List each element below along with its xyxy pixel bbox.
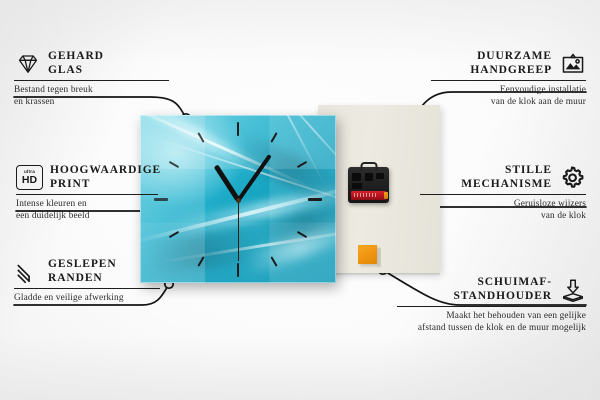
feature-divider	[14, 288, 160, 289]
feature-title-line2: PRINT	[50, 178, 161, 192]
feature-subtitle-line1: Geruisloze wijzers	[420, 199, 586, 211]
feature-subtitle-line2: afstand tussen de klok en de muur mogeli…	[397, 323, 586, 335]
feature-schuimafstandhouder: SCHUIMAF- STANDHOUDER Maakt het behouden…	[397, 276, 586, 334]
tick-3	[308, 198, 322, 201]
feature-title-line2: STANDHOUDER	[397, 290, 552, 304]
feature-title-line2: RANDEN	[48, 272, 117, 286]
tick-6	[237, 263, 239, 277]
feature-divider	[431, 80, 586, 81]
hand-hub	[236, 198, 241, 203]
feature-subtitle-line1: Intense kleuren en	[16, 199, 194, 211]
feature-title-line2: MECHANISME	[420, 178, 552, 192]
feature-divider	[397, 306, 586, 307]
feature-subtitle-line2: en krassen	[14, 97, 169, 109]
feature-geslepen-randen: GESLEPEN RANDEN Gladde en veilige afwerk…	[14, 258, 174, 305]
feature-hoogwaardige-print: ultra HD HOOGWAARDIGE PRINT Intense kleu…	[16, 164, 194, 222]
feature-subtitle-line1: Eenvoudige installatie	[431, 85, 586, 97]
feature-divider	[16, 194, 158, 195]
quartz-movement	[348, 167, 389, 203]
battery	[351, 191, 386, 200]
feature-title-line1: GEHARD	[48, 50, 104, 64]
infographic-canvas: GEHARD GLAS Bestand tegen breuk en krass…	[0, 0, 600, 400]
feature-title-line2: HANDGREEP	[431, 64, 552, 78]
tick-12	[237, 122, 239, 136]
feature-divider	[14, 80, 169, 81]
feature-subtitle-line2: een duidelijk beeld	[16, 211, 194, 223]
feature-title-line1: HOOGWAARDIGE	[50, 164, 161, 178]
feature-subtitle-line1: Maakt het behouden van een gelijke	[397, 311, 586, 323]
feature-subtitle-line2: van de klok aan de muur	[431, 97, 586, 109]
diamond-icon	[14, 50, 41, 77]
feature-stille-mechanisme: STILLE MECHANISME Geruisloze wijzers van…	[420, 164, 586, 222]
feature-title-line1: DUURZAME	[431, 50, 552, 64]
second-hand	[238, 199, 239, 261]
feature-subtitle-line2: van de klok	[420, 211, 586, 223]
framed-picture-icon	[559, 50, 586, 77]
foam-spacer	[358, 245, 377, 264]
feature-title-line1: GESLEPEN	[48, 258, 117, 272]
feature-gehard-glas: GEHARD GLAS Bestand tegen breuk en krass…	[14, 50, 169, 108]
feature-title-line1: STILLE	[420, 164, 552, 178]
ultra-hd-large-text: HD	[22, 175, 37, 186]
ultra-hd-badge-icon: ultra HD	[16, 164, 43, 191]
feature-title-line2: GLAS	[48, 64, 104, 78]
hanger-hook-icon	[360, 162, 377, 171]
foam-spacer-arrow-icon	[559, 276, 586, 303]
gear-icon	[559, 164, 586, 191]
feature-duurzame-handgreep: DUURZAME HANDGREEP Eenvoudige installati…	[431, 50, 586, 108]
beveled-edges-icon	[14, 258, 41, 285]
feature-divider	[420, 194, 586, 195]
feature-subtitle-line1: Gladde en veilige afwerking	[14, 293, 174, 305]
feature-subtitle-line1: Bestand tegen breuk	[14, 85, 169, 97]
feature-title-line1: SCHUIMAF-	[397, 276, 552, 290]
